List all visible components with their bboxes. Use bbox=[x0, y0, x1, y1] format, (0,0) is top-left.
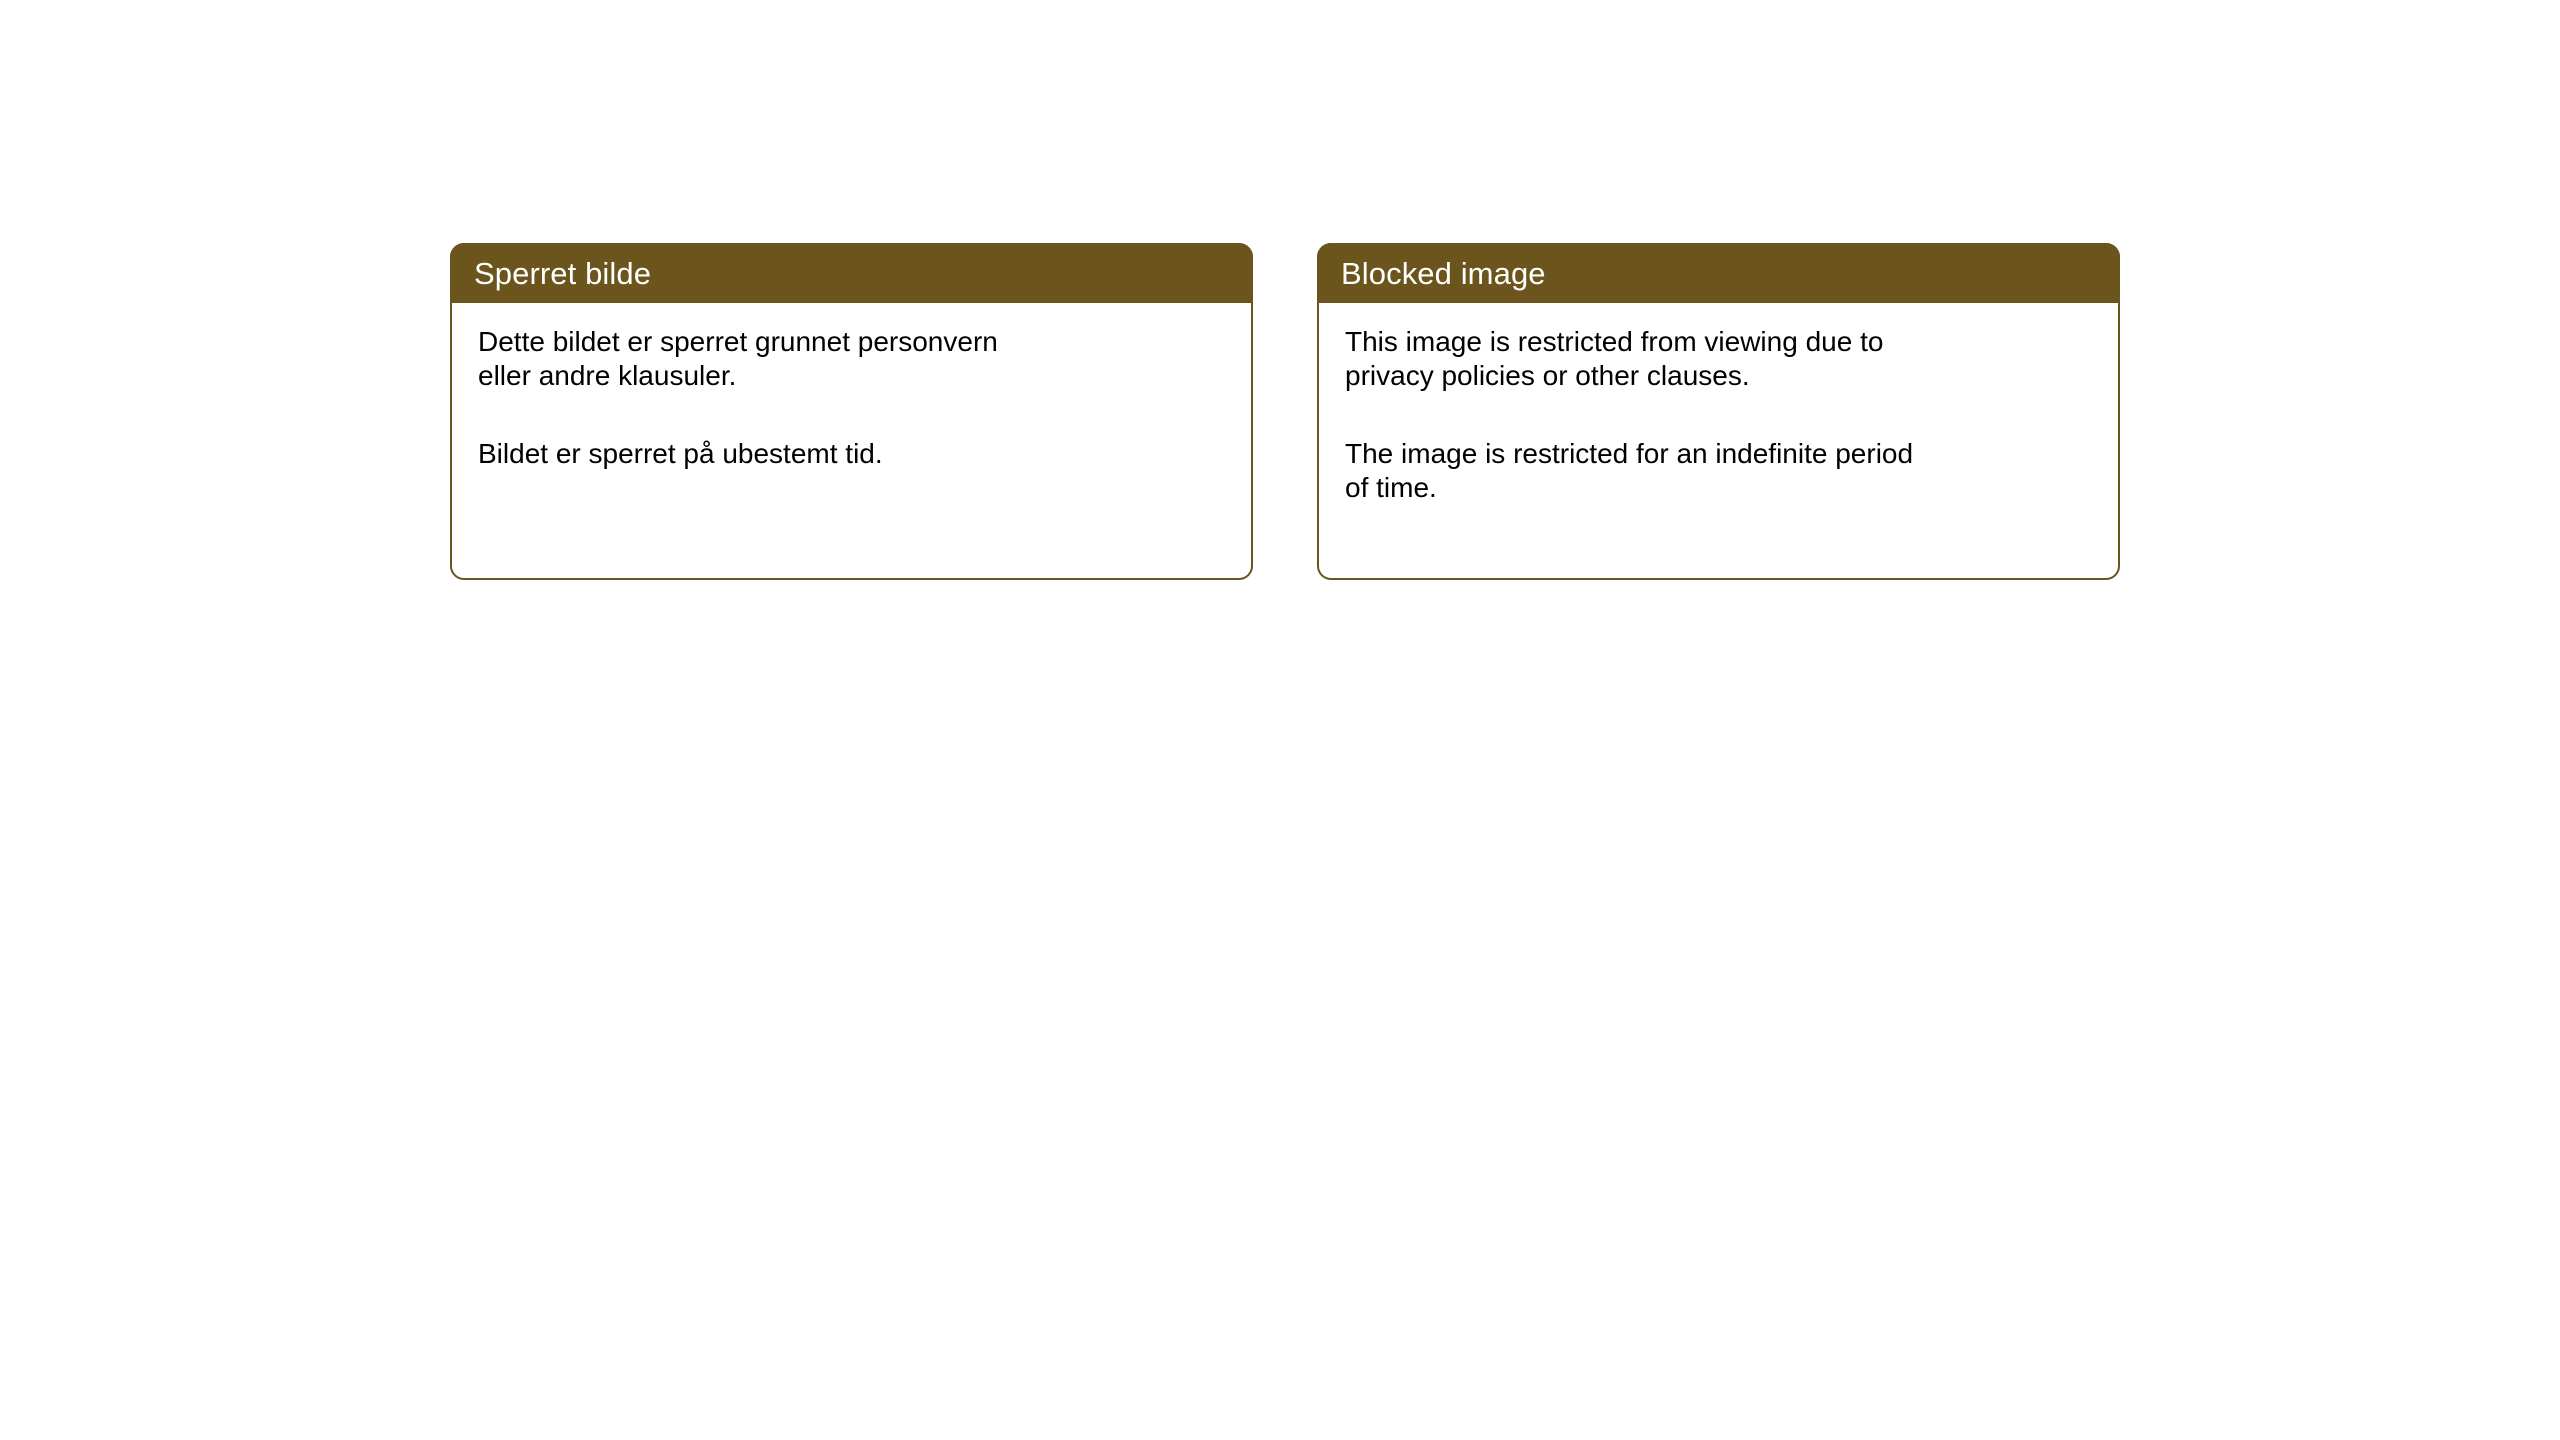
card-title-english: Blocked image bbox=[1341, 258, 1546, 289]
card-header-norwegian: Sperret bilde bbox=[450, 243, 1253, 303]
card-paragraph-reason-norwegian: Dette bildet er sperret grunnet personve… bbox=[478, 325, 1225, 393]
card-header-english: Blocked image bbox=[1317, 243, 2120, 303]
card-title-norwegian: Sperret bilde bbox=[474, 258, 651, 289]
card-paragraph-reason-english: This image is restricted from viewing du… bbox=[1345, 325, 2092, 393]
card-body-english: This image is restricted from viewing du… bbox=[1319, 303, 2118, 505]
blocked-image-notice-card-english: Blocked image This image is restricted f… bbox=[1317, 243, 2120, 580]
page-canvas: Sperret bilde Dette bildet er sperret gr… bbox=[0, 0, 2560, 1440]
blocked-image-notice-card-norwegian: Sperret bilde Dette bildet er sperret gr… bbox=[450, 243, 1253, 580]
card-paragraph-duration-norwegian: Bildet er sperret på ubestemt tid. bbox=[478, 437, 1225, 471]
card-paragraph-duration-english: The image is restricted for an indefinit… bbox=[1345, 437, 2092, 505]
card-body-norwegian: Dette bildet er sperret grunnet personve… bbox=[452, 303, 1251, 471]
